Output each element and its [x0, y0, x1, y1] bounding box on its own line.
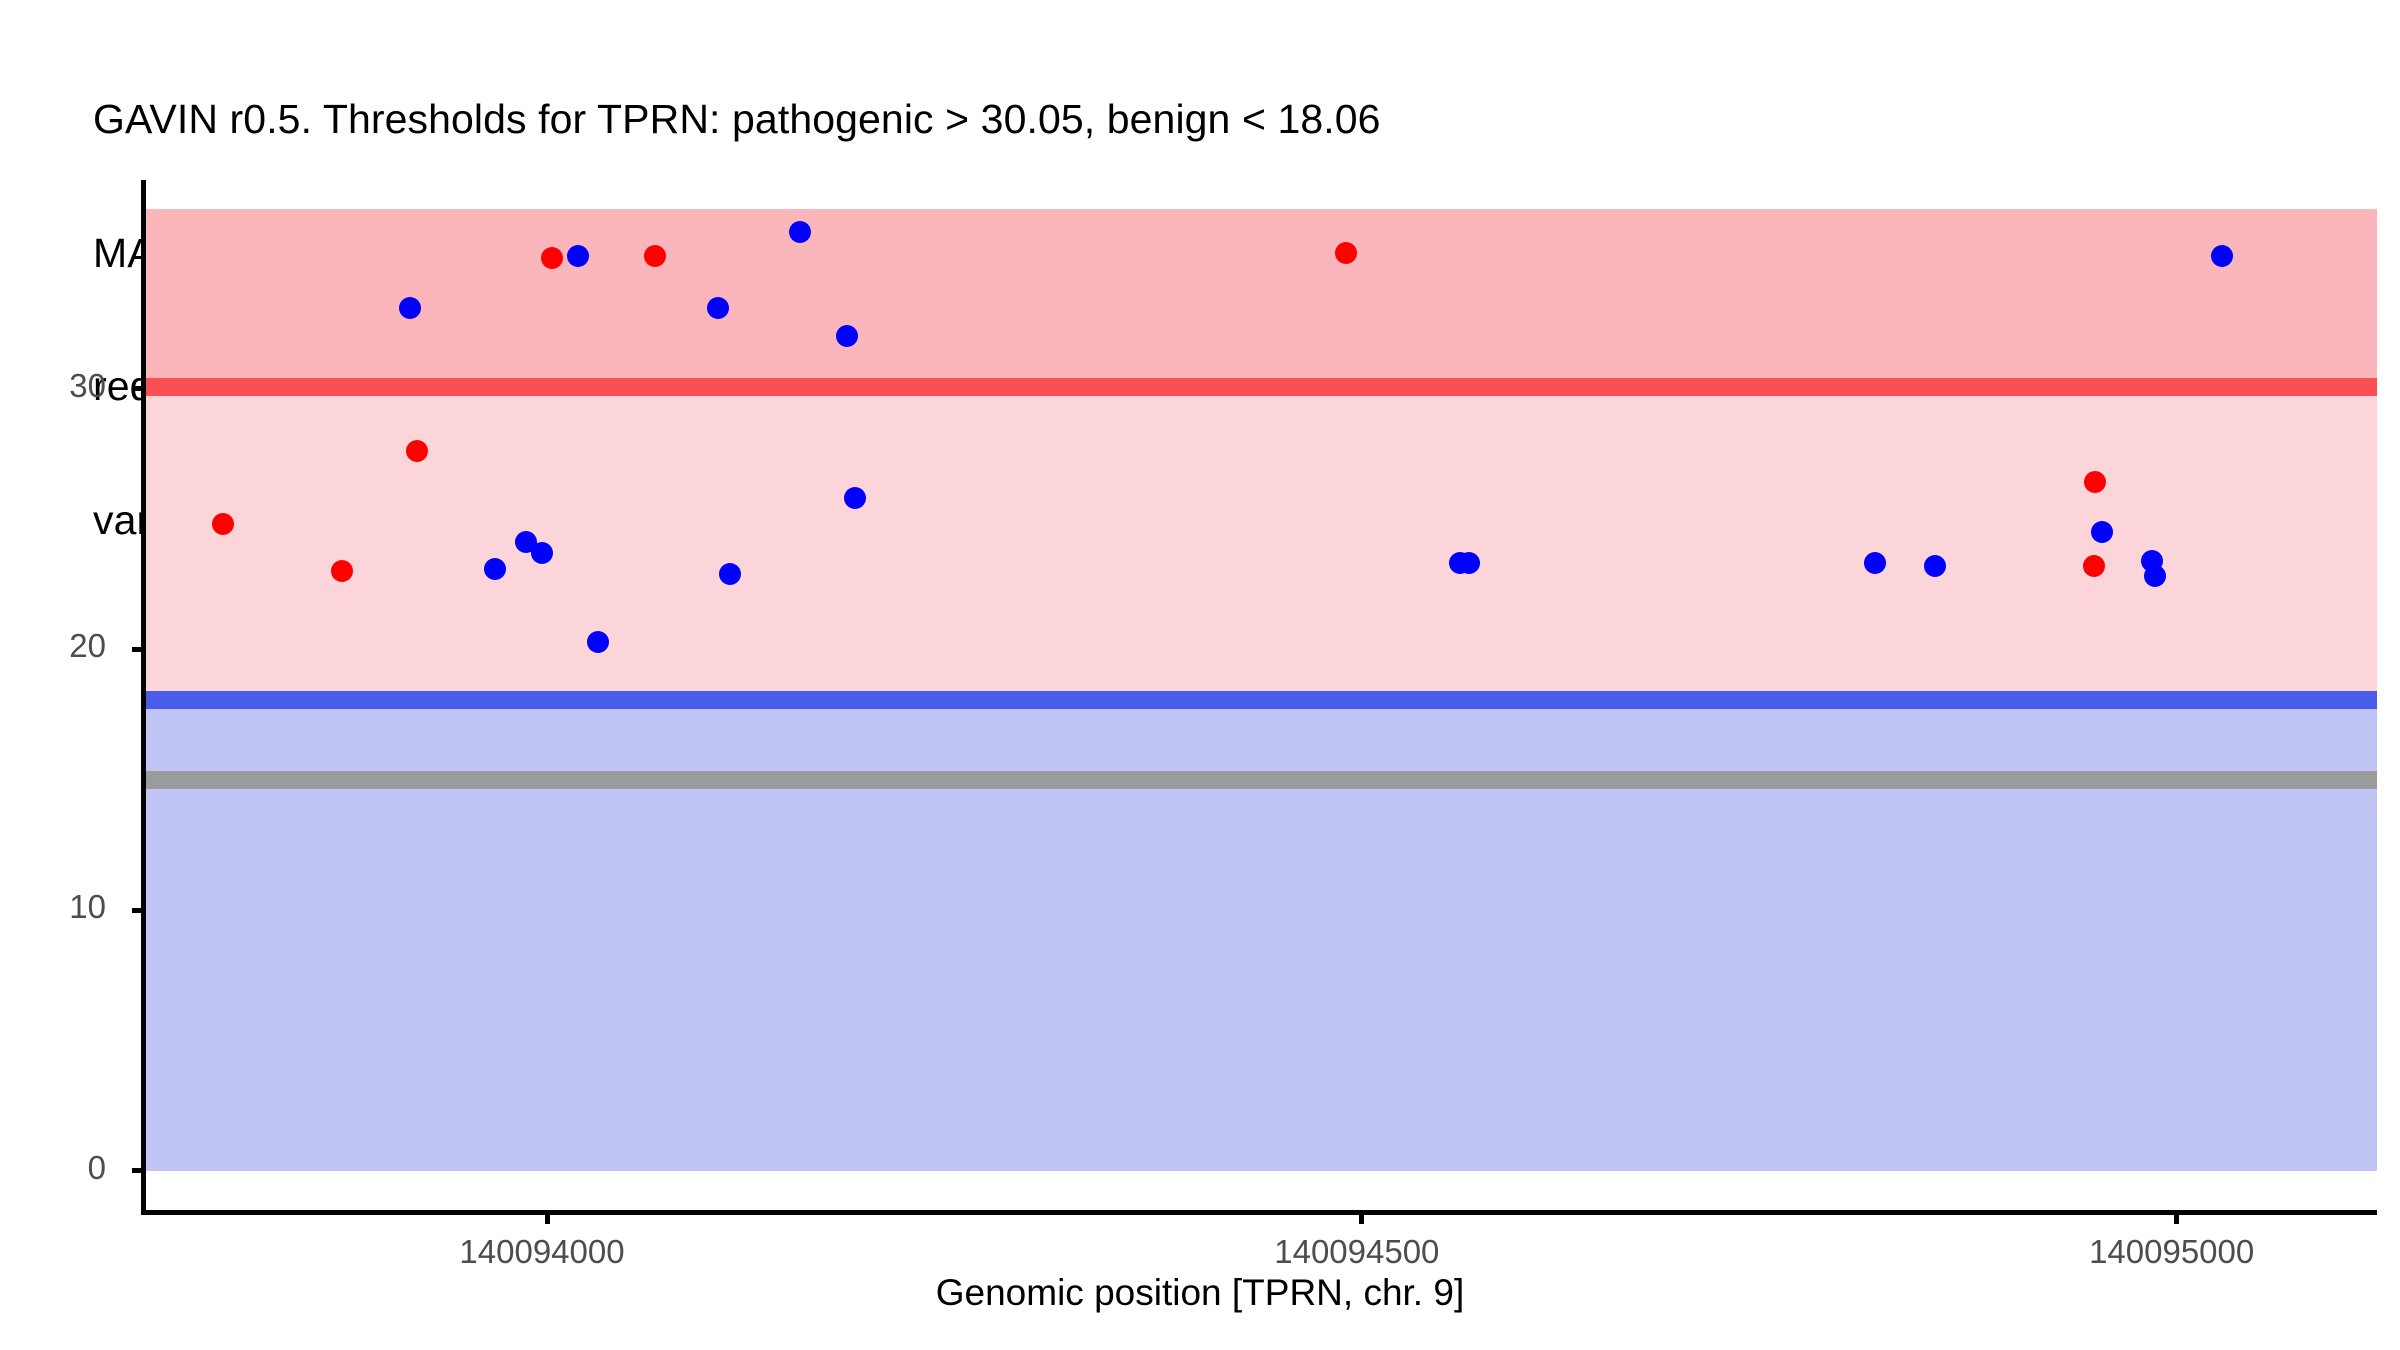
- benign-band-lower: [146, 789, 2377, 1171]
- y-tick-label: 10: [0, 888, 106, 926]
- clinvar-point: [2083, 555, 2105, 577]
- benign-threshold-line: [146, 691, 2377, 709]
- clinvar-point: [331, 560, 353, 582]
- pathogenic-threshold-line: [146, 378, 2377, 396]
- gnomad-point: [567, 245, 589, 267]
- gnomad-point: [2211, 245, 2233, 267]
- gnomad-point: [484, 558, 506, 580]
- genome-wide-fallback-line: [146, 771, 2377, 789]
- threshold-bands-layer: [146, 180, 2377, 1210]
- x-tick: [2174, 1210, 2179, 1224]
- x-tick-label: 140094500: [1227, 1233, 1487, 1271]
- plot-figure: GAVIN r0.5. Thresholds for TPRN: pathoge…: [0, 0, 2400, 1350]
- clinvar-point: [406, 440, 428, 462]
- x-tick-label: 140094000: [412, 1233, 672, 1271]
- y-tick-label: 30: [0, 367, 106, 405]
- benign-band-upper: [146, 709, 2377, 771]
- gnomad-point: [2091, 521, 2113, 543]
- y-tick-label: 0: [0, 1149, 106, 1187]
- pathogenic-lower-band: [146, 396, 2377, 691]
- clinvar-point: [212, 513, 234, 535]
- gnomad-point: [531, 542, 553, 564]
- x-tick-label: 140095000: [2042, 1233, 2302, 1271]
- plot-panel: [141, 180, 2377, 1215]
- y-tick-label: 20: [0, 627, 106, 665]
- gnomad-point: [719, 563, 741, 585]
- y-tick: [132, 647, 146, 652]
- pathogenic-upper-band: [146, 209, 2377, 379]
- x-tick: [1359, 1210, 1364, 1224]
- y-tick: [132, 386, 146, 391]
- clinvar-point: [644, 245, 666, 267]
- gnomad-point: [707, 297, 729, 319]
- gnomad-point: [399, 297, 421, 319]
- gnomad-point: [844, 487, 866, 509]
- x-axis-title: Genomic position [TPRN, chr. 9]: [0, 1272, 2400, 1314]
- clinvar-point: [1335, 242, 1357, 264]
- title-line-1: GAVIN r0.5. Thresholds for TPRN: pathoge…: [93, 97, 2343, 142]
- gnomad-point: [789, 221, 811, 243]
- x-tick: [545, 1210, 550, 1224]
- gnomad-point: [587, 631, 609, 653]
- clinvar-point: [541, 247, 563, 269]
- y-tick: [132, 1168, 146, 1173]
- y-tick: [132, 908, 146, 913]
